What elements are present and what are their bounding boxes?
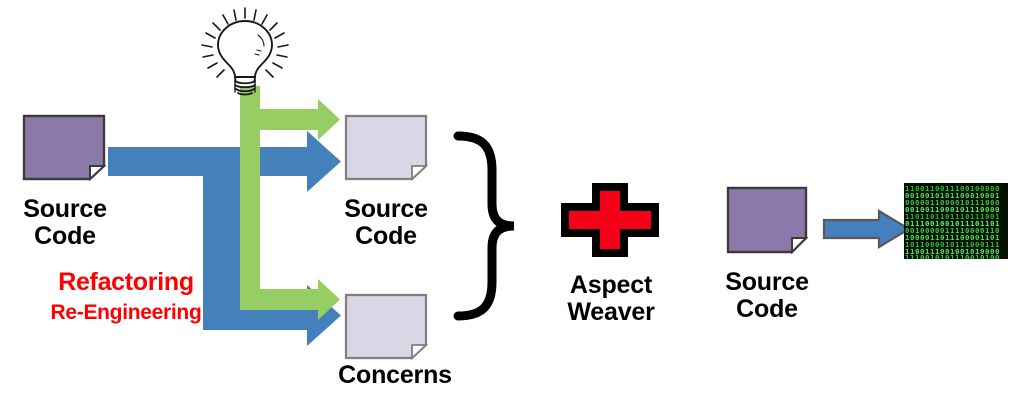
plus-shape — [565, 187, 655, 253]
source-code-woven-page — [726, 186, 808, 254]
source-code-woven-label: Source Code — [706, 269, 828, 323]
binary-row: 1110010101110010100 — [905, 253, 1000, 259]
lightbulb-icon — [186, 4, 304, 96]
source-code-output-page — [344, 114, 428, 181]
source-code-input-page — [22, 114, 106, 181]
page-fold — [792, 238, 806, 252]
compile-arrow — [821, 207, 913, 251]
grouping-brace — [448, 130, 558, 322]
page-fold — [412, 345, 426, 358]
re-engineering-label: Re-Engineering — [20, 302, 232, 324]
source-code-output-label: Source Code — [325, 196, 447, 250]
green-arrow-top-branch — [255, 99, 340, 140]
concerns-label: Concerns — [320, 362, 470, 389]
binary-matrix-icon: 1100110011100100000 0010010101100010001 … — [904, 183, 1008, 259]
concerns-page — [344, 293, 428, 360]
page-fold — [90, 166, 104, 179]
page-fold — [412, 166, 426, 179]
curly-brace-path — [458, 136, 514, 316]
refactoring-label: Refactoring — [24, 269, 228, 295]
source-code-input-label: Source Code — [4, 196, 126, 250]
diagram-canvas: Source Code Refactoring Re-Engineering S… — [0, 0, 1028, 420]
plus-icon — [560, 183, 660, 257]
arrow-shape — [824, 211, 909, 247]
aspect-weaver-label: Aspect Weaver — [544, 272, 678, 326]
